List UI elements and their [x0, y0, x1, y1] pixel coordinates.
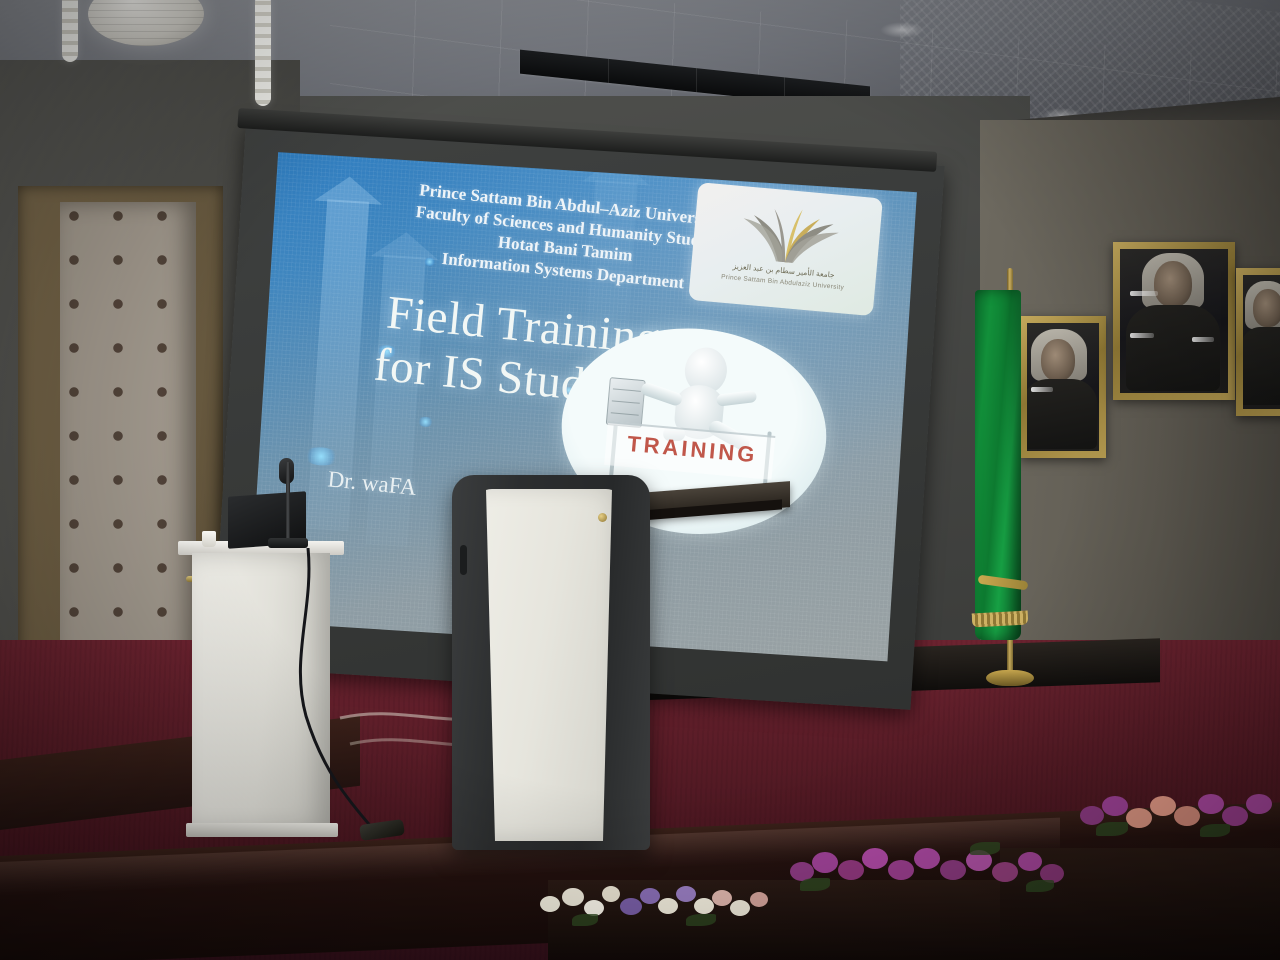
open-book-logo-icon: [732, 200, 843, 271]
magenta-flower-arrangement: [790, 838, 1090, 908]
royal-portrait-center: [1113, 242, 1235, 400]
flag-fringe: [972, 611, 1029, 628]
microphone-stem: [286, 462, 290, 546]
royal-portrait-left: [1020, 316, 1106, 458]
flower-garland: [62, 0, 78, 62]
lecture-hall-photo: Prince Sattam Bin Abdul–Aziz University …: [0, 0, 1280, 960]
white-flower-arrangement: [536, 880, 796, 940]
main-lectern: [452, 475, 650, 850]
lectern-knob[interactable]: [598, 513, 607, 522]
royal-portrait-right: [1236, 268, 1280, 416]
ceiling-downlight: [880, 22, 924, 38]
flower-garland: [255, 0, 271, 106]
flag-stand-base: [986, 670, 1034, 686]
podium-cable: [250, 548, 480, 848]
microphone-base: [268, 538, 308, 548]
pink-purple-flower-arrangement: [1080, 790, 1280, 862]
lectern-side-slot: [460, 545, 467, 575]
university-logo-card: جامعة الأمير سطام بن عبد العزيز Prince S…: [688, 182, 883, 316]
lectern-front-panel: [474, 489, 624, 841]
cup: [202, 531, 216, 547]
